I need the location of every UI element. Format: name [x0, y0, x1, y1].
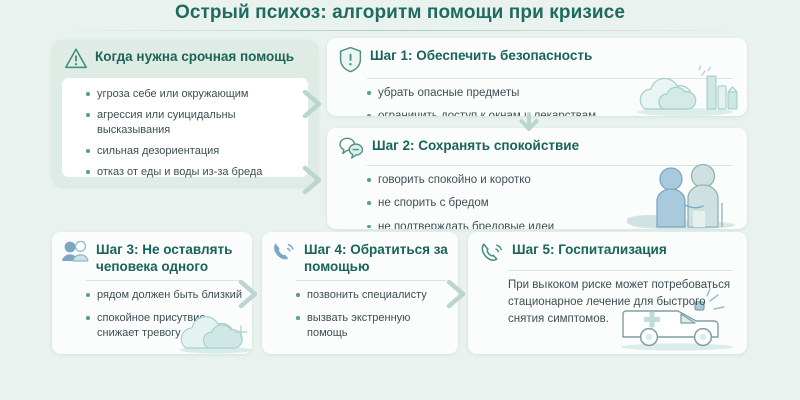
step-4-list: позвонить специалисту вызвать экстренную…	[262, 281, 458, 350]
step-1-header: Шаг 1: Обеспечить безопасность	[327, 38, 747, 78]
step-2-card: Шаг 2: Сохранять спокойствие говорить сп…	[327, 128, 747, 229]
step-4-card: Шаг 4: Обратиться за помощью позвонить с…	[262, 232, 458, 354]
step-4-title: Шаг 4: Обратиться за помощью	[304, 240, 448, 275]
step-1-list: убрать опасные предметы ограничить досту…	[327, 79, 747, 116]
title-divider	[55, 30, 745, 31]
step-5-paragraph: При вьıкоком риске может потребоваться с…	[468, 271, 747, 338]
list-item: сильная дезориентация	[86, 144, 298, 165]
step-4-header: Шаг 4: Обратиться за помощью	[262, 232, 458, 280]
list-item: вызвать экстренную помощь	[296, 311, 450, 342]
arrow-step1-to-step2	[516, 112, 542, 134]
infographic-canvas: Острый психоз: алгоритм помощи при кризи…	[0, 0, 800, 400]
step-1-title: Шаг 1: Обеспечить безопасность	[370, 46, 592, 65]
warning-card-header: Когда нужна срочная помощь	[52, 40, 318, 76]
phone-ringing-icon	[479, 240, 505, 265]
step-3-list: рядом должен быть близкий спокойное прис…	[52, 281, 252, 350]
list-item: отказ от еды и воды из-за бреда	[86, 165, 298, 186]
step-3-header: Шаг 3: Не оставлять чеповека одного	[52, 232, 252, 280]
list-item: спокойное присутвие снижает тревогу	[86, 311, 244, 342]
shield-exclamation-icon	[338, 46, 363, 73]
list-item: позвонить специалисту	[296, 288, 450, 311]
list-item: говорить спокойно и коротко	[367, 173, 735, 196]
step-3-card: Шаг 3: Не оставлять чеповека одного рядо…	[52, 232, 252, 354]
list-item: убрать опасные предметы	[367, 86, 735, 109]
step-2-list: говорить спокойно и коротко не спорить с…	[327, 166, 747, 229]
step-5-header: Шаг 5: Госпитализация	[468, 232, 747, 270]
arrow-step3-to-step4	[236, 278, 264, 310]
warning-triangle-icon	[64, 47, 88, 70]
warning-list-panel: угроза себе или окружающим агрессия или …	[62, 78, 308, 177]
warning-card: Когда нужна срочная помощь угроза себе и…	[52, 40, 318, 186]
two-persons-icon	[61, 240, 89, 264]
list-item: не подтверждать бредовые идеи	[367, 220, 735, 229]
arrow-warning-to-step3	[300, 164, 328, 196]
speech-bubbles-icon	[338, 136, 365, 160]
list-item: ограничить доступ к окнам и лекарствам	[367, 109, 735, 116]
step-3-title: Шаг 3: Не оставлять чеповека одного	[96, 240, 242, 275]
step-2-title: Шаг 2: Сохранять спокойствие	[372, 136, 579, 155]
phone-ringing-icon	[271, 240, 297, 264]
list-item: агрессия или суицидальны высказывания	[86, 108, 298, 144]
step-1-card: Шаг 1: Обеспечить безопасность убрать оп…	[327, 38, 747, 116]
warning-list: угроза себе или окружающим агрессия или …	[62, 78, 308, 186]
page-title: Острый психоз: алгоритм помощи при кризи…	[0, 2, 800, 24]
list-item: рядом должен быть близкий	[86, 288, 244, 311]
arrow-warning-to-step1	[300, 88, 328, 120]
step-5-title: Шаг 5: Госпитализация	[512, 240, 667, 259]
list-item: не спорить с бредом	[367, 196, 735, 219]
step-5-card: Шаг 5: Госпитализация При вьıкоком риске…	[468, 232, 747, 354]
list-item: угроза себе или окружающим	[86, 87, 298, 108]
warning-card-title: Когда нужна срочная помощь	[95, 47, 294, 66]
